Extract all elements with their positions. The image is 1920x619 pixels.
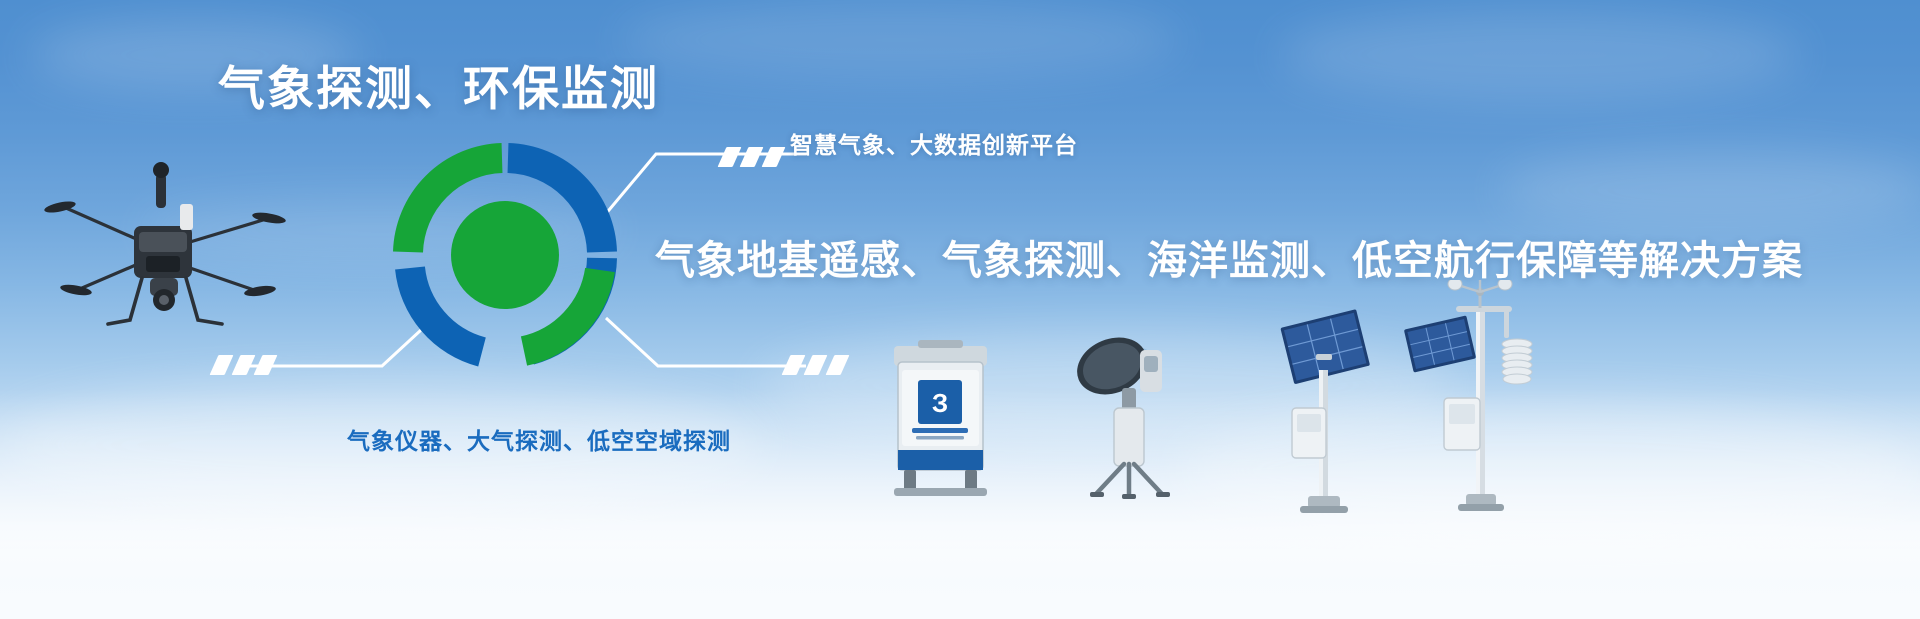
solar-station-icon [1272, 300, 1377, 515]
cloud-wisp [1500, 150, 1920, 230]
ring-logo [390, 140, 620, 370]
page-title: 气象探测、环保监测 [218, 50, 659, 119]
label-solutions: 气象地基遥感、气象探测、海洋监测、低空航行保障等解决方案 [655, 228, 1803, 286]
label-instruments: 气象仪器、大气探测、低空空域探测 [347, 422, 731, 456]
cloud-wisp [1280, 10, 1800, 100]
connector-line-bottom-right [600, 300, 840, 390]
slash-marks-top [722, 147, 781, 167]
weather-detection-banner: 智慧气象、大数据创新平台 [0, 0, 1920, 619]
slash-marks-bottom-left [214, 355, 273, 375]
horizon-haze-lower [0, 524, 1920, 619]
instrument-cabinet-icon: З [888, 300, 993, 500]
cloud-wisp [620, 0, 1180, 80]
svg-text:З: З [932, 388, 948, 418]
slash-marks-bottom-right [786, 355, 845, 375]
satellite-dish-icon [1068, 300, 1188, 500]
label-smart-weather: 智慧气象、大数据创新平台 [790, 126, 1078, 160]
weather-station-icon [1400, 280, 1540, 520]
